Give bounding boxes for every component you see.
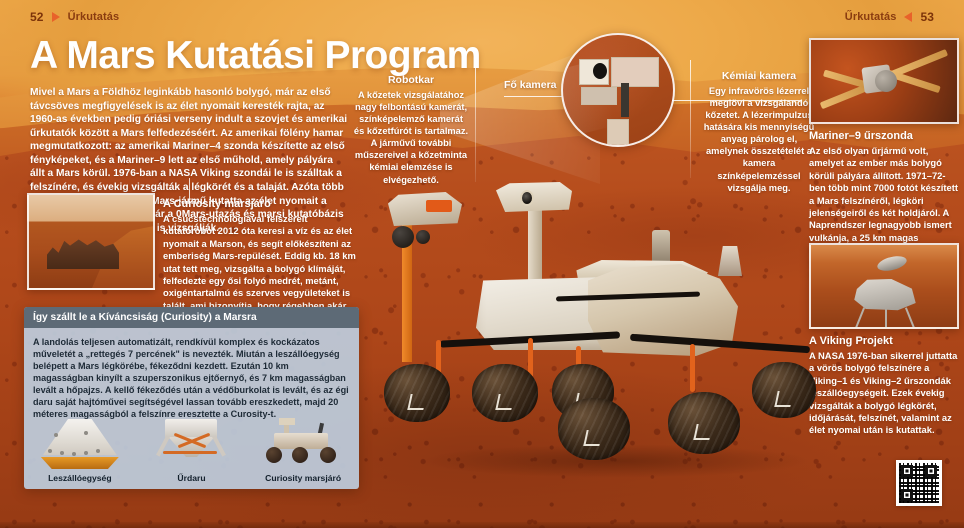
- rover-mast-camera-lens: [520, 190, 534, 206]
- triangle-right-icon: [52, 12, 60, 22]
- crane-cable: [163, 451, 217, 454]
- divider-robotkar: [475, 62, 476, 182]
- leader-line-chem-camera: [672, 100, 802, 101]
- capsule-heat-shield: [41, 457, 119, 469]
- mini-rover-wheel: [320, 447, 336, 463]
- figure-caption: Curiosity marsjáró: [249, 473, 357, 483]
- page-number-right: 53: [920, 10, 934, 24]
- divider-kemiai: [690, 60, 691, 178]
- rover-rtg-power-unit: [718, 246, 742, 276]
- rover-wheel: [384, 364, 450, 422]
- article-curiosity: A Curiosity marsjáró A csúcstechnológiáv…: [163, 198, 359, 325]
- rover-cable-tube: [690, 344, 695, 392]
- photo-curiosity-rover: [27, 193, 155, 290]
- rover-arm-joint: [392, 226, 414, 248]
- mini-rover: [260, 421, 346, 463]
- section-label-left: Űrkutatás: [68, 11, 120, 23]
- mini-rover-camera-head: [279, 418, 295, 425]
- qr-code[interactable]: [896, 460, 942, 506]
- inset-antenna: [621, 83, 629, 117]
- inset-camera-box-right: [611, 57, 659, 87]
- descent-capsule-art: [26, 409, 134, 471]
- landing-panel-text: A landolás teljesen automatizált, rendkí…: [24, 328, 359, 420]
- sky-crane-art: [137, 409, 245, 471]
- lander-leg: [905, 307, 915, 328]
- page-number-left: 52: [30, 10, 44, 24]
- photo-rover-silhouette: [47, 233, 119, 269]
- callout-chem-camera-title: Kémiai kamera: [700, 70, 818, 82]
- qr-finder-icon: [901, 465, 913, 477]
- landing-panel-title: Így szállt le a Kíváncsiság (Curiosity) …: [24, 307, 359, 328]
- page-title: A Mars Kutatási Program: [30, 34, 481, 78]
- rover-instrument-stack: [652, 230, 670, 264]
- magazine-spread: 52 Űrkutatás Űrkutatás 53 A Mars Kutatás…: [0, 0, 964, 528]
- rover-wheel: [668, 392, 740, 454]
- figure-caption: Űrdaru: [137, 473, 245, 483]
- rover-mast-head: [496, 182, 572, 212]
- rover-wheel: [752, 362, 816, 418]
- lander-leg: [885, 309, 887, 329]
- landing-panel-figures: Leszállóegység Űrdaru: [24, 409, 359, 483]
- landing-sequence-panel: Így szállt le a Kíváncsiság (Curiosity) …: [24, 307, 359, 489]
- capsule-shell: [43, 419, 117, 463]
- figure-descent-capsule: Leszállóegység: [26, 409, 134, 483]
- rover-wheel: [472, 364, 538, 422]
- article-mariner-9-title: Mariner–9 űrszonda: [809, 130, 961, 142]
- rover-wheel: [558, 398, 630, 460]
- mini-rover-wheel: [292, 447, 308, 463]
- mini-rover-wheel: [266, 447, 282, 463]
- inset-mast-column: [607, 119, 629, 147]
- inset-lower-housing: [581, 87, 617, 105]
- lander-leg: [855, 307, 865, 328]
- callout-robot-arm-title: Robotkar: [353, 74, 469, 86]
- lander-dish: [876, 254, 908, 274]
- probe-dish: [875, 70, 897, 92]
- callout-main-camera-label: Fő kamera: [504, 79, 557, 91]
- article-curiosity-title: A Curiosity marsjáró: [163, 198, 359, 210]
- figure-caption: Leszállóegység: [26, 473, 134, 483]
- inset-lens: [593, 63, 607, 79]
- page-bottom-edge: [0, 522, 964, 528]
- qr-finder-icon: [925, 465, 937, 477]
- camera-detail-inset: [561, 33, 675, 147]
- running-head-left: 52 Űrkutatás: [30, 10, 119, 24]
- crane-body: [165, 419, 217, 439]
- rover-turret-accent: [426, 200, 452, 212]
- leader-line-main-camera: [504, 96, 566, 97]
- triangle-left-icon: [904, 12, 912, 22]
- figure-curiosity-rover: Curiosity marsjáró: [249, 409, 357, 483]
- photo-mariner-9: [809, 38, 959, 124]
- mini-rover-art: [249, 409, 357, 471]
- figure-sky-crane: Űrdaru: [137, 409, 245, 483]
- section-label-right: Űrkutatás: [845, 11, 897, 23]
- qr-finder-icon: [901, 489, 913, 501]
- curiosity-rover-illustration: [380, 168, 850, 498]
- running-head-right: Űrkutatás 53: [845, 10, 934, 24]
- rover-arm-joint: [416, 230, 430, 244]
